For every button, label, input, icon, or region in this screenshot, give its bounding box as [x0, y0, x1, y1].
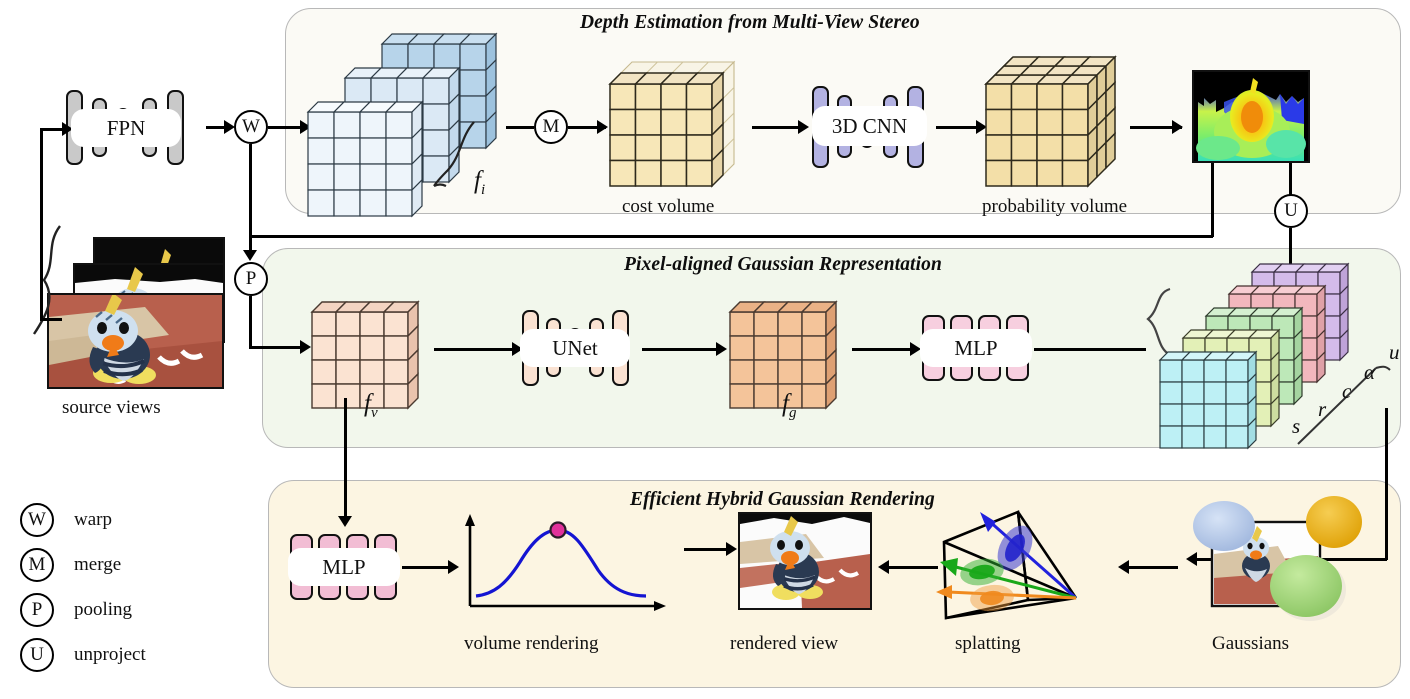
- probability-volume-cube: [986, 56, 1126, 192]
- caption-cost-volume: cost volume: [622, 196, 714, 218]
- label-f-v-sub: v: [371, 405, 378, 421]
- arrowhead-cost-to-cnn: [798, 120, 809, 134]
- arrowhead-pooling-to-fv: [300, 340, 311, 354]
- op-unproject-glyph: U: [1284, 201, 1298, 220]
- legend-warp-glyph: W: [28, 510, 46, 529]
- line-pooling-down: [249, 296, 252, 348]
- gaussians-scene: [1182, 498, 1372, 628]
- op-warp[interactable]: W: [234, 110, 268, 144]
- legend-merge-icon: M: [20, 548, 54, 582]
- gaussian-param-label-u: u: [1389, 340, 1400, 365]
- fpn-block[interactable]: FPN: [66, 90, 206, 165]
- label-f-i: fi: [474, 167, 485, 199]
- legend-warp-label: warp: [74, 509, 112, 531]
- legend-item-merge: M merge: [20, 548, 121, 582]
- legend-unproject-icon: U: [20, 638, 54, 672]
- mlp-gaussian-block[interactable]: MLP: [922, 315, 1032, 381]
- label-f-g-base: f: [782, 390, 789, 417]
- caption-source-views: source views: [62, 397, 161, 419]
- line-unet-to-fg: [642, 348, 724, 351]
- arrowhead-plot-to-rendered: [726, 542, 737, 556]
- legend-item-warp: W warp: [20, 503, 112, 537]
- unet-block[interactable]: UNet: [522, 310, 640, 386]
- caption-probability-volume: probability volume: [982, 196, 1127, 218]
- arrowhead-unet-to-fg: [716, 342, 727, 356]
- arrowhead-gaussians-to-splatting: [1118, 560, 1129, 574]
- feedback-line-to-fpn: [40, 128, 64, 131]
- arrowhead-mlp-to-plot: [448, 560, 459, 574]
- legend-item-unproject: U unproject: [20, 638, 146, 672]
- legend-pooling-label: pooling: [74, 599, 132, 621]
- legend-unproject-glyph: U: [30, 645, 44, 664]
- line-plot-to-rendered: [684, 548, 732, 551]
- panel-title-hybrid-rendering: Efficient Hybrid Gaussian Rendering: [630, 489, 935, 511]
- op-unproject[interactable]: U: [1274, 194, 1308, 228]
- label-f-v: fv: [364, 390, 378, 422]
- source-view-1: [47, 293, 224, 389]
- op-pooling-glyph: P: [246, 269, 257, 288]
- gaussian-param-label-s: s: [1292, 414, 1300, 439]
- legend-warp-icon: W: [20, 503, 54, 537]
- line-depth-feedback-long: [249, 235, 1213, 238]
- label-f-g-sub: g: [789, 405, 797, 421]
- volume-rendering-plot: [462, 512, 672, 622]
- splatting-frustum: [930, 500, 1120, 630]
- label-f-g: fg: [782, 390, 796, 422]
- arrowhead-prob-to-depth: [1172, 120, 1183, 134]
- caption-volume-rendering: volume rendering: [464, 633, 599, 655]
- legend-pooling-icon: P: [20, 593, 54, 627]
- line-fv-to-unet: [434, 348, 520, 351]
- mlp-render-block[interactable]: MLP: [290, 534, 400, 600]
- legend-pooling-glyph: P: [32, 600, 43, 619]
- arrowhead-splatting-to-rendered: [878, 560, 889, 574]
- caption-splatting: splatting: [955, 633, 1020, 655]
- legend-unproject-label: unproject: [74, 644, 146, 666]
- gaussian-param-label-c: c: [1342, 379, 1351, 404]
- panel-title-gaussian-representation: Pixel-aligned Gaussian Representation: [624, 254, 942, 276]
- arrowhead-fv-to-render-mlp: [338, 516, 352, 527]
- line-mlp-to-gaussian-volumes: [1034, 348, 1146, 351]
- fpn-label: FPN: [71, 109, 181, 147]
- gaussian-param-label-r: r: [1318, 397, 1326, 422]
- mlp-gaussian-label: MLP: [920, 329, 1032, 367]
- line-gaussians-to-splatting: [1126, 566, 1178, 569]
- line-fv-to-render-mlp: [344, 398, 347, 520]
- legend-item-pooling: P pooling: [20, 593, 132, 627]
- line-depth-to-unproject: [1289, 163, 1292, 195]
- cnn3d-block[interactable]: 3D CNN: [812, 86, 940, 168]
- mlp-render-label: MLP: [288, 548, 400, 586]
- rendered-view-image: [738, 512, 872, 610]
- line-fg-to-mlp: [852, 348, 918, 351]
- label-f-i-base: f: [474, 167, 481, 194]
- arrowhead-merge-to-cost: [597, 120, 608, 134]
- op-pooling[interactable]: P: [234, 262, 268, 296]
- panel-title-depth-estimation: Depth Estimation from Multi-View Stereo: [580, 12, 920, 34]
- op-merge-glyph: M: [543, 117, 560, 136]
- caption-gaussians: Gaussians: [1212, 633, 1289, 655]
- legend-merge-label: merge: [74, 554, 121, 576]
- unet-label: UNet: [520, 329, 630, 367]
- label-f-v-base: f: [364, 390, 371, 417]
- cost-volume-cube: [610, 62, 750, 192]
- op-merge[interactable]: M: [534, 110, 568, 144]
- line-features-to-merge: [506, 126, 534, 129]
- line-gaussians-down: [1385, 408, 1388, 560]
- cnn3d-label: 3D CNN: [812, 106, 927, 146]
- arrowhead-warp-to-pooling: [243, 250, 257, 261]
- line-pooling-to-fv: [249, 346, 307, 349]
- feedback-line-from-views: [40, 318, 62, 321]
- source-views-brace: [26, 222, 66, 342]
- gaussian-param-label-alpha: α: [1364, 360, 1375, 385]
- feedback-line-vertical: [40, 128, 43, 320]
- image-feature-volumes: [308, 22, 543, 202]
- fi-brace: [432, 120, 476, 192]
- line-depth-to-pag: [1211, 163, 1214, 237]
- depth-map: [1192, 70, 1310, 163]
- legend-merge-glyph: M: [29, 555, 46, 574]
- caption-rendered-view: rendered view: [730, 633, 838, 655]
- label-f-i-sub: i: [481, 182, 485, 198]
- op-warp-glyph: W: [242, 117, 260, 136]
